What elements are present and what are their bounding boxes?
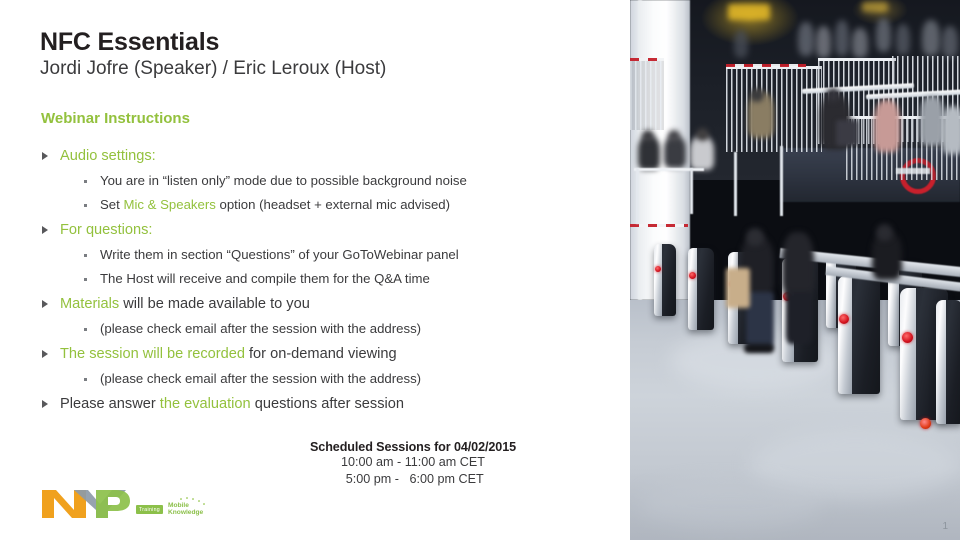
frame-post <box>690 168 693 214</box>
frame-rail <box>634 168 704 171</box>
bullet-text-part: (please check email after the session wi… <box>100 321 421 336</box>
crowd-figure <box>942 26 958 58</box>
backpack <box>836 120 858 146</box>
bullet-text-part: The Host will receive and compile them f… <box>100 271 430 286</box>
bullet-item-level1: Please answer the evaluation questions a… <box>40 391 620 417</box>
pedestrian <box>782 232 814 298</box>
mobile-knowledge-name: Mobile Knowledge <box>168 502 230 517</box>
bullet-text-part: Please answer <box>60 396 160 412</box>
schedule-row: 10:00 am - 11:00 am CET <box>248 454 578 471</box>
schedule-row: 5:00 pm - 6:00 pm CET <box>248 471 578 488</box>
bullet-item-level2: (please check email after the session wi… <box>40 317 620 341</box>
warning-tape <box>630 224 688 227</box>
bullet-text-part: (please check email after the session wi… <box>100 371 421 386</box>
fare-gate-panel <box>838 276 852 394</box>
crowd-figure <box>922 20 940 56</box>
bullet-text-part: The session will be recorded <box>60 346 245 362</box>
square-bullet-icon <box>84 254 87 257</box>
slide-number: 1 <box>942 521 948 532</box>
pedestrian <box>874 100 900 152</box>
square-bullet-icon <box>84 378 87 381</box>
instructions-list: Audio settings:You are in “listen only” … <box>40 143 620 417</box>
triangle-bullet-icon <box>42 152 48 160</box>
bullet-text-part: Audio settings: <box>60 148 156 164</box>
pedestrian-head <box>876 224 893 241</box>
warning-tape <box>630 58 664 61</box>
mobile-knowledge-logo: Training Mobile Knowledge <box>136 498 236 522</box>
presentation-slide: 1 NFC Essentials Jordi Jofre (Speaker) /… <box>0 0 960 540</box>
pedestrian-legs <box>786 292 812 344</box>
bullet-text-part: Set <box>100 197 123 212</box>
pedestrian <box>920 96 944 146</box>
contactless-reader-icon <box>839 314 849 324</box>
bullet-text-part: Write them in section “Questions” of you… <box>100 247 459 262</box>
bullet-item-level2: The Host will receive and compile them f… <box>40 267 620 291</box>
crowd-figure <box>835 20 849 56</box>
frame-post <box>780 146 783 216</box>
schedule-block: Scheduled Sessions for 04/02/2015 10:00 … <box>248 440 578 488</box>
station-photo: 1 <box>630 0 960 540</box>
pedestrian-head <box>668 130 680 142</box>
pedestrian-head <box>746 228 764 246</box>
railing <box>630 60 664 130</box>
bullet-item-level1: For questions: <box>40 217 620 243</box>
page-title: NFC Essentials <box>40 28 219 57</box>
training-tag: Training <box>136 505 163 514</box>
bullet-item-level2: Set Mic & Speakers option (headset + ext… <box>40 193 620 217</box>
bullet-text-part: questions after session <box>251 396 404 412</box>
fare-gate-panel <box>688 248 697 330</box>
warning-tape <box>726 64 806 67</box>
logo-dot <box>186 497 188 499</box>
crowd-figure <box>852 28 868 58</box>
shopping-bag <box>726 268 750 308</box>
square-bullet-icon <box>84 328 87 331</box>
logo-dot <box>180 498 182 500</box>
section-heading: Webinar Instructions <box>41 110 190 127</box>
slide-content: NFC Essentials Jordi Jofre (Speaker) / E… <box>0 0 630 540</box>
mk-line-2: Knowledge <box>168 509 203 516</box>
fare-gate-panel <box>654 244 662 316</box>
crowd-figure <box>816 26 831 58</box>
bullet-text-part: For questions: <box>60 222 152 238</box>
square-bullet-icon <box>84 278 87 281</box>
pedestrian-head <box>696 128 709 141</box>
pedestrian <box>690 136 714 170</box>
crowd-figure <box>798 22 814 56</box>
crowd-figure <box>734 30 748 58</box>
bullet-item-level2: (please check email after the session wi… <box>40 367 620 391</box>
signage-glow <box>728 4 770 20</box>
square-bullet-icon <box>84 180 87 183</box>
pedestrian-legs <box>746 292 774 350</box>
schedule-title: Scheduled Sessions for 04/02/2015 <box>248 440 578 454</box>
bullet-item-level1: Audio settings: <box>40 143 620 169</box>
triangle-bullet-icon <box>42 226 48 234</box>
pedestrian-head <box>642 130 654 142</box>
bullet-text-part: will be made available to you <box>119 296 310 312</box>
logo-dot <box>192 498 194 500</box>
bullet-item-level2: Write them in section “Questions” of you… <box>40 243 620 267</box>
nxp-logo <box>40 484 132 520</box>
fare-gate-panel <box>936 300 946 424</box>
triangle-bullet-icon <box>42 350 48 358</box>
bullet-text-part: option (headset + external mic advised) <box>216 197 450 212</box>
pedestrian <box>942 106 960 154</box>
photo-vignette <box>630 470 960 540</box>
mk-line-1: Mobile <box>168 502 189 509</box>
fare-gate-panel <box>900 288 916 420</box>
bullet-item-level1: Materials will be made available to you <box>40 291 620 317</box>
crowd-figure <box>896 24 910 55</box>
triangle-bullet-icon <box>42 300 48 308</box>
contactless-reader-icon <box>689 272 696 279</box>
contactless-reader-icon <box>920 418 931 429</box>
bullet-text-part: You are in “listen only” mode due to pos… <box>100 173 467 188</box>
pedestrian-shoes <box>744 344 774 353</box>
bullet-text-part: Mic & Speakers <box>123 197 215 212</box>
bullet-item-level2: You are in “listen only” mode due to pos… <box>40 169 620 193</box>
square-bullet-icon <box>84 204 87 207</box>
signage-glow <box>862 2 888 12</box>
contactless-reader-icon <box>655 266 661 272</box>
railing <box>726 68 822 152</box>
bullet-text-part: the evaluation <box>160 396 251 412</box>
pedestrian-head <box>750 88 764 102</box>
contactless-reader-icon <box>902 332 913 343</box>
bullet-item-level1: The session will be recorded for on-dema… <box>40 341 620 367</box>
crowd-figure <box>876 18 891 52</box>
logo-area: Training Mobile Knowledge <box>40 484 240 530</box>
bullet-text-part: for on-demand viewing <box>245 346 397 362</box>
presenter-subtitle: Jordi Jofre (Speaker) / Eric Leroux (Hos… <box>40 58 386 80</box>
railing-top-rail <box>818 58 896 61</box>
frame-post <box>636 168 639 224</box>
bullet-text-part: Materials <box>60 296 119 312</box>
pedestrian-head <box>826 88 840 102</box>
triangle-bullet-icon <box>42 400 48 408</box>
frame-post <box>734 152 737 216</box>
